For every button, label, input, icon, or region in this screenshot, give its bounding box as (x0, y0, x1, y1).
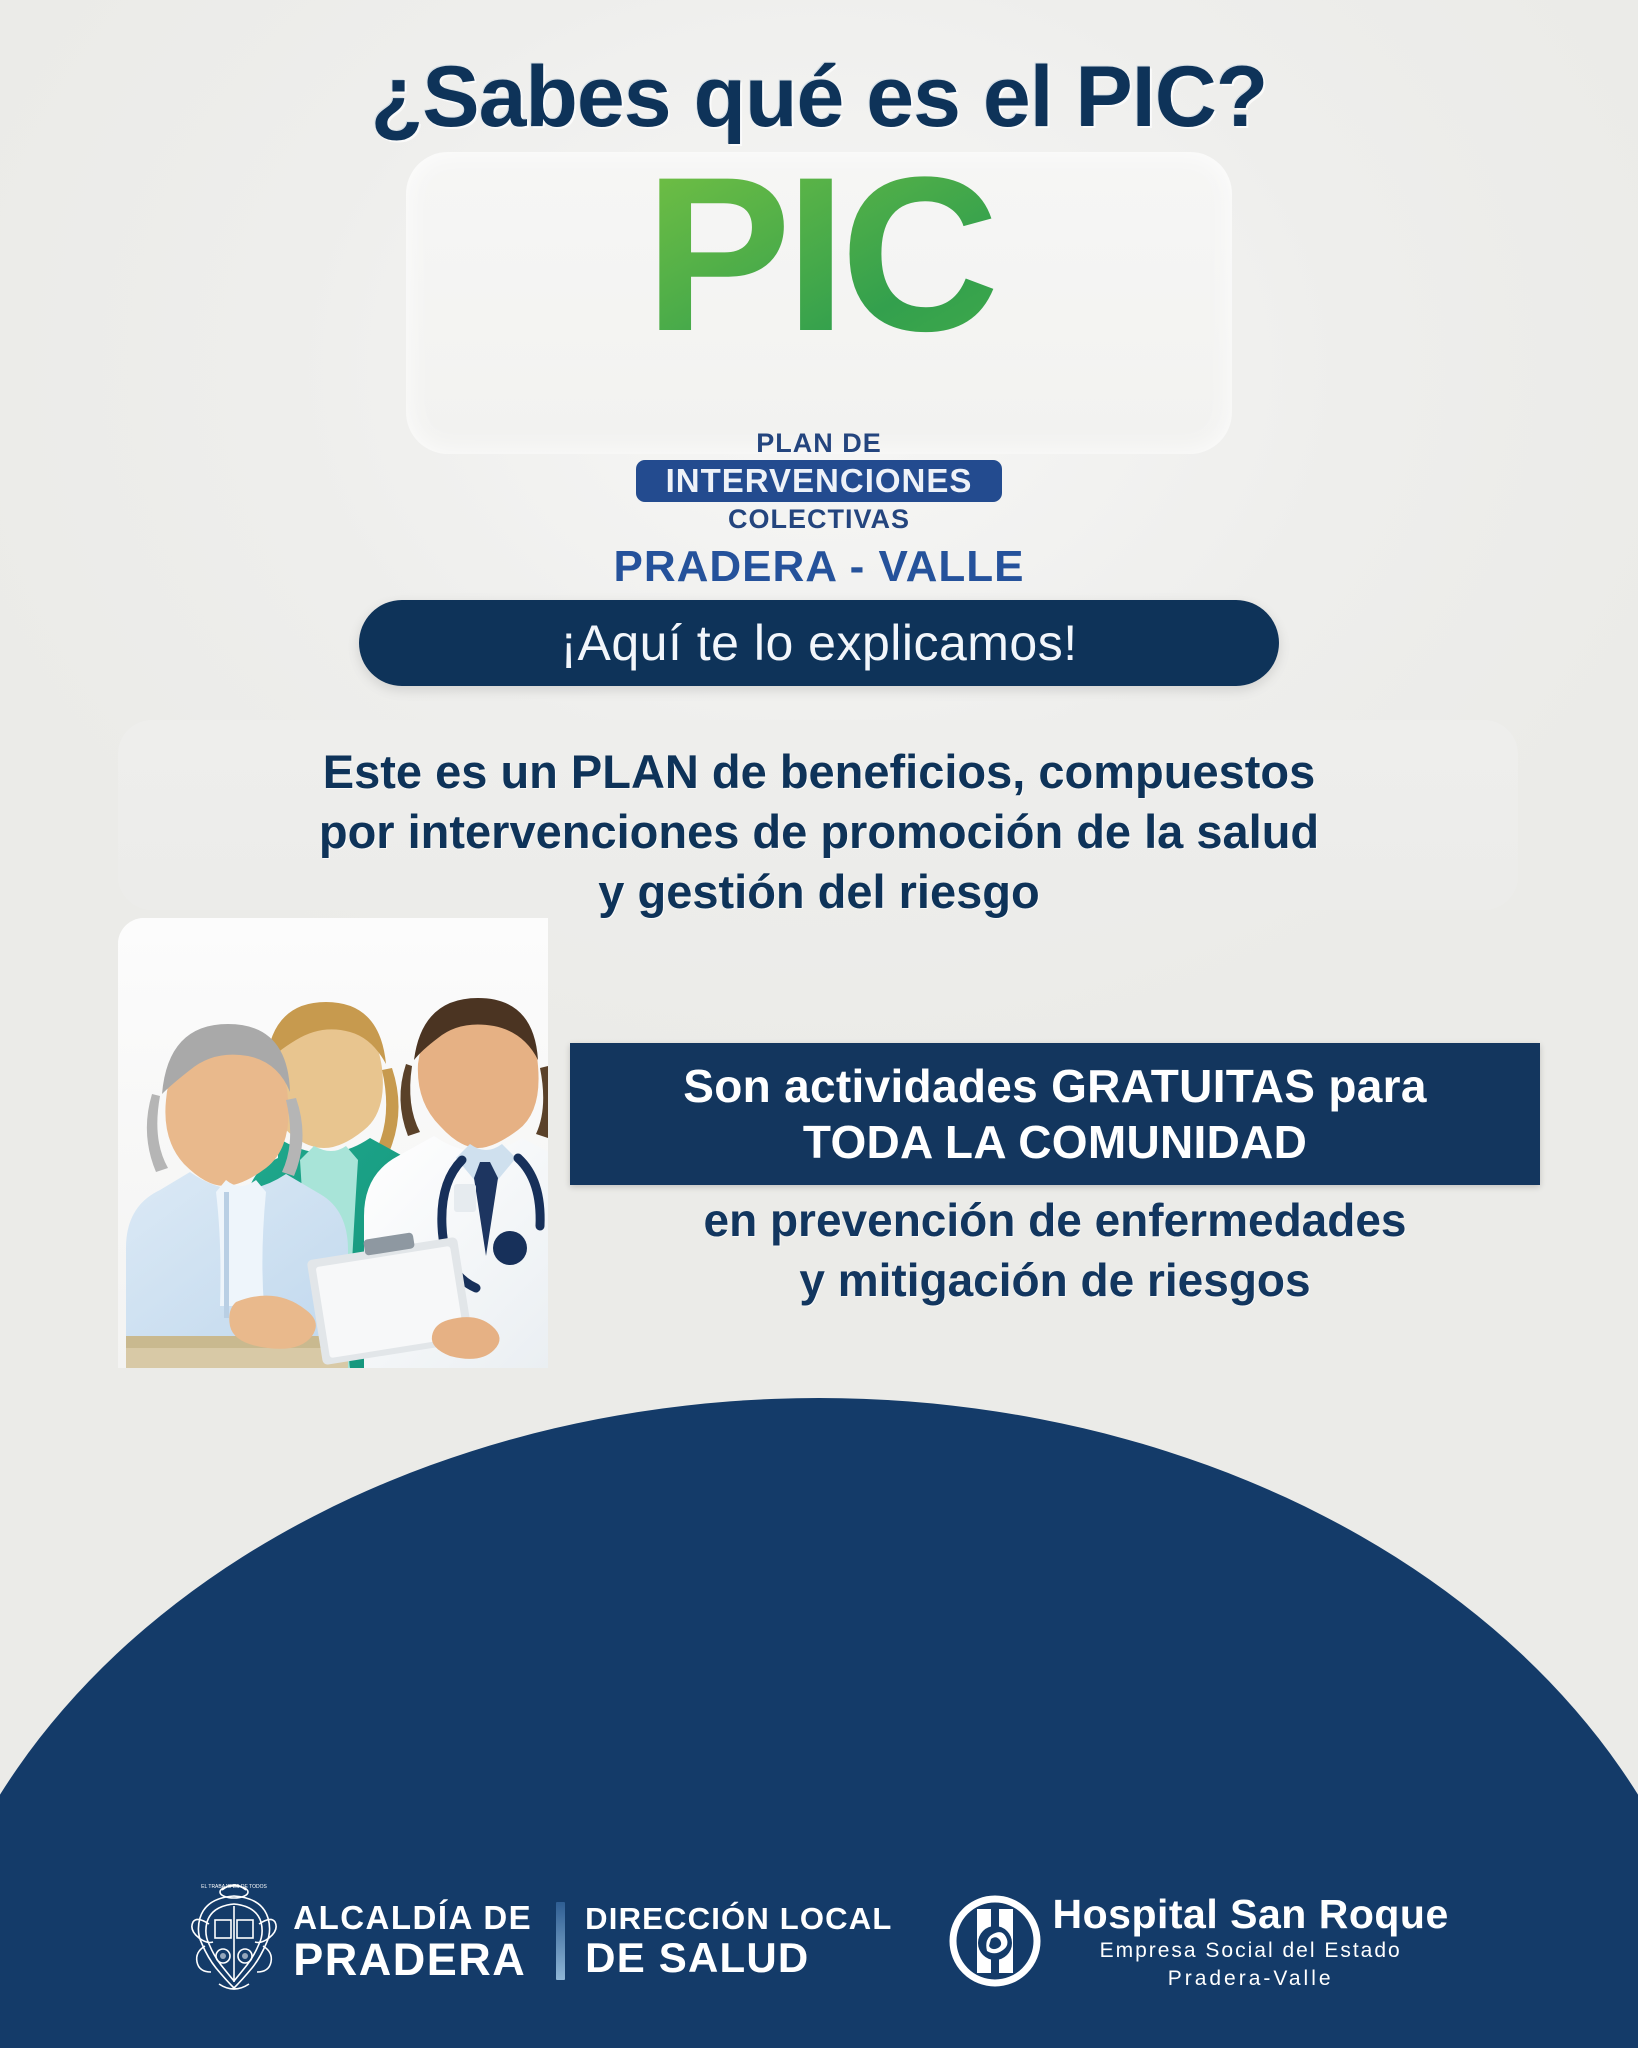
footer-divider (556, 1902, 565, 1980)
hospital-name: Hospital San Roque (1053, 1894, 1449, 1935)
crest-motto: EL TRABAJO ES DE TODOS (201, 1884, 267, 1890)
free-activities-line-2: TODA LA COMUNIDAD (803, 1114, 1307, 1170)
description-line-3: y gestión del riesgo (0, 862, 1638, 922)
hospital-location: Pradera-Valle (1053, 1968, 1449, 1989)
pic-acronym: PIC (0, 154, 1638, 354)
poster-root: ¿Sabes qué es el PIC? PIC PLAN DE INTERV… (0, 0, 1638, 2048)
prevention-line-2: y mitigación de riesgos (560, 1250, 1550, 1310)
description-text: Este es un PLAN de beneficios, compuesto… (0, 742, 1638, 922)
prevention-text: en prevención de enfermedades y mitigaci… (560, 1190, 1550, 1310)
pic-subtitle-line-3: COLECTIVAS (0, 503, 1638, 535)
free-activities-line-1: Son actividades GRATUITAS para (683, 1058, 1426, 1114)
description-line-1: Este es un PLAN de beneficios, compuesto… (0, 742, 1638, 802)
description-line-2: por intervenciones de promoción de la sa… (0, 802, 1638, 862)
pradera-coat-of-arms-icon: EL TRABAJO ES DE TODOS (189, 1880, 279, 2002)
direccion-line-1: DIRECCIÓN LOCAL (585, 1903, 892, 1934)
hospital-san-roque-logo-icon (947, 1893, 1043, 1989)
hospital-subtitle: Empresa Social del Estado (1053, 1940, 1449, 1961)
direccion-salud-wordmark: DIRECCIÓN LOCAL DE SALUD (585, 1903, 892, 1979)
pic-logo-subtitle: PLAN DE INTERVENCIONES COLECTIVAS (0, 428, 1638, 535)
free-activities-band: Son actividades GRATUITAS para TODA LA C… (570, 1043, 1540, 1185)
footer-logo-row: EL TRABAJO ES DE TODOS ALCALDÍA DE PRADE… (0, 1880, 1638, 2002)
direccion-line-2: DE SALUD (585, 1937, 892, 1979)
alcaldia-line-1: ALCALDÍA DE (293, 1901, 532, 1934)
alcaldia-line-2: PRADERA (293, 1937, 532, 1982)
prevention-line-1: en prevención de enfermedades (560, 1190, 1550, 1250)
pic-subtitle-line-1: PLAN DE (0, 428, 1638, 458)
explain-banner: ¡Aquí te lo explicamos! (359, 600, 1279, 686)
hospital-wordmark: Hospital San Roque Empresa Social del Es… (1053, 1894, 1449, 1989)
consultation-photo (118, 918, 548, 1368)
pic-location-label: PRADERA - VALLE (0, 542, 1638, 592)
pic-subtitle-line-2: INTERVENCIONES (636, 460, 1003, 502)
explain-banner-label: ¡Aquí te lo explicamos! (560, 614, 1077, 672)
alcaldia-wordmark: ALCALDÍA DE PRADERA (293, 1901, 532, 1982)
consultation-photo-illustration (118, 918, 548, 1368)
